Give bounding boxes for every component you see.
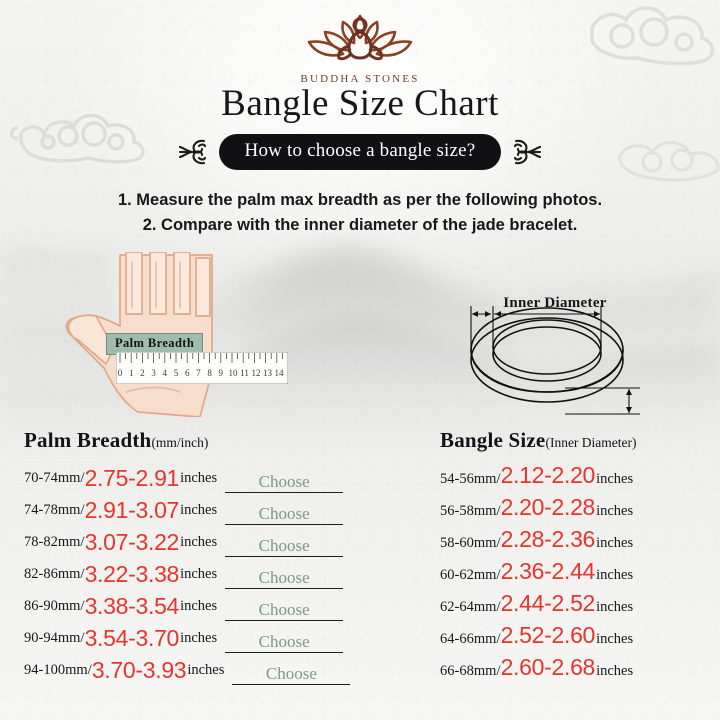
- bangle-ring-perspective-icon: [455, 292, 655, 420]
- svg-text:5: 5: [174, 368, 179, 378]
- lotus-meditation-logo-icon: [297, 8, 423, 70]
- svg-text:2: 2: [140, 368, 145, 378]
- row-inch: 2.60-2.68: [501, 654, 596, 681]
- row-mm: 90-94mm: [24, 630, 80, 647]
- palm-breadth-header-sub: (mm/inch): [151, 435, 208, 450]
- instruction-line-2: 2. Compare with the inner diameter of th…: [0, 213, 720, 238]
- bangle-size-rows: 54-56mm / 2.12-2.20 inches 56-58mm / 2.2…: [440, 462, 712, 686]
- row-mm: 54-56mm: [440, 471, 496, 488]
- row-inch: 2.44-2.52: [501, 590, 596, 617]
- table-row: 74-78mm / 2.91-3.07 inches Choose: [24, 494, 354, 526]
- row-unit: inches: [186, 662, 224, 679]
- choose-field[interactable]: Choose: [232, 655, 350, 685]
- choose-field[interactable]: Choose: [225, 495, 343, 525]
- row-inch: 3.70-3.93: [92, 657, 187, 684]
- svg-text:6: 6: [185, 368, 190, 378]
- svg-text:4: 4: [163, 368, 168, 378]
- row-unit: inches: [595, 503, 633, 520]
- svg-text:8: 8: [207, 368, 212, 378]
- table-row: 78-82mm / 3.07-3.22 inches Choose: [24, 526, 354, 558]
- ruler-icon: 012 345 678 91011 121314: [116, 352, 288, 384]
- bangle-size-table: Bangle Size(Inner Diameter) 54-56mm / 2.…: [440, 428, 712, 686]
- ornamental-swirl-icon-right: [511, 135, 545, 169]
- row-mm: 64-66mm: [440, 631, 496, 648]
- choose-field[interactable]: Choose: [225, 623, 343, 653]
- row-inch: 3.54-3.70: [85, 625, 180, 652]
- svg-text:13: 13: [263, 368, 273, 378]
- choose-label: Choose: [259, 633, 310, 653]
- instruction-line-1: 1. Measure the palm max breadth as per t…: [0, 188, 720, 213]
- row-unit: inches: [595, 567, 633, 584]
- choose-underline: [232, 684, 350, 685]
- brand-logo-block: BUDDHA STONES: [0, 8, 720, 85]
- svg-text:7: 7: [196, 368, 201, 378]
- bangle-size-header-main: Bangle Size: [440, 428, 545, 452]
- row-mm: 58-60mm: [440, 535, 496, 552]
- row-mm: 66-68mm: [440, 663, 496, 680]
- row-unit: inches: [595, 471, 633, 488]
- table-row: 60-62mm / 2.36-2.44 inches: [440, 558, 712, 590]
- row-unit: inches: [179, 566, 217, 583]
- svg-text:11: 11: [240, 368, 249, 378]
- row-mm: 78-82mm: [24, 534, 80, 551]
- row-unit: inches: [595, 599, 633, 616]
- choose-label: Choose: [259, 601, 310, 621]
- row-inch: 2.12-2.20: [501, 462, 596, 489]
- table-row: 86-90mm / 3.38-3.54 inches Choose: [24, 590, 354, 622]
- row-unit: inches: [179, 534, 217, 551]
- row-unit: inches: [595, 631, 633, 648]
- row-unit: inches: [595, 663, 633, 680]
- choose-field[interactable]: Choose: [225, 559, 343, 589]
- page-title: Bangle Size Chart: [0, 82, 720, 125]
- table-row: 58-60mm / 2.28-2.36 inches: [440, 526, 712, 558]
- choose-field[interactable]: Choose: [225, 527, 343, 557]
- row-mm: 82-86mm: [24, 566, 80, 583]
- row-inch: 3.38-3.54: [85, 593, 180, 620]
- banner-row: How to choose a bangle size?: [0, 134, 720, 170]
- bangle-size-chart-page: BUDDHA STONES Bangle Size Chart How to c…: [0, 0, 720, 720]
- choose-label: Choose: [259, 505, 310, 525]
- row-inch: 3.22-3.38: [85, 561, 180, 588]
- row-inch: 2.91-3.07: [85, 497, 180, 524]
- row-mm: 56-58mm: [440, 503, 496, 520]
- choose-underline: [225, 652, 343, 653]
- row-mm: 86-90mm: [24, 598, 80, 615]
- table-row: 90-94mm / 3.54-3.70 inches Choose: [24, 622, 354, 654]
- svg-text:1: 1: [129, 368, 134, 378]
- row-inch: 2.52-2.60: [501, 622, 596, 649]
- row-mm: 74-78mm: [24, 502, 80, 519]
- row-unit: inches: [595, 535, 633, 552]
- bangle-size-header-sub: (Inner Diameter): [545, 435, 636, 450]
- svg-text:0: 0: [118, 368, 123, 378]
- row-mm: 94-100mm: [24, 662, 88, 679]
- row-unit: inches: [179, 630, 217, 647]
- table-row: 94-100mm / 3.70-3.93 inches Choose: [24, 654, 354, 686]
- row-inch: 2.20-2.28: [501, 494, 596, 521]
- row-unit: inches: [179, 470, 217, 487]
- palm-breadth-table: Palm Breadth(mm/inch) 70-74mm / 2.75-2.9…: [24, 428, 354, 686]
- table-row: 82-86mm / 3.22-3.38 inches Choose: [24, 558, 354, 590]
- choose-label: Choose: [259, 537, 310, 557]
- table-row: 66-68mm / 2.60-2.68 inches: [440, 654, 712, 686]
- choose-label: Choose: [266, 665, 317, 685]
- choose-underline: [225, 492, 343, 493]
- how-to-choose-banner: How to choose a bangle size?: [219, 134, 502, 170]
- row-mm: 62-64mm: [440, 599, 496, 616]
- instructions-block: 1. Measure the palm max breadth as per t…: [0, 188, 720, 238]
- svg-text:10: 10: [229, 368, 239, 378]
- svg-text:3: 3: [151, 368, 156, 378]
- choose-label: Choose: [259, 569, 310, 589]
- row-unit: inches: [179, 502, 217, 519]
- palm-breadth-rows: 70-74mm / 2.75-2.91 inches Choose 74-78m…: [24, 462, 354, 686]
- table-row: 54-56mm / 2.12-2.20 inches: [440, 462, 712, 494]
- row-inch: 2.36-2.44: [501, 558, 596, 585]
- choose-underline: [225, 620, 343, 621]
- row-mm: 60-62mm: [440, 567, 496, 584]
- row-inch: 2.75-2.91: [85, 465, 180, 492]
- row-inch: 2.28-2.36: [501, 526, 596, 553]
- svg-text:9: 9: [219, 368, 224, 378]
- choose-underline: [225, 588, 343, 589]
- table-row: 62-64mm / 2.44-2.52 inches: [440, 590, 712, 622]
- bangle-size-header: Bangle Size(Inner Diameter): [440, 428, 712, 453]
- ornamental-swirl-icon-left: [175, 135, 209, 169]
- palm-breadth-header-main: Palm Breadth: [24, 428, 151, 452]
- svg-text:14: 14: [275, 368, 285, 378]
- palm-breadth-header: Palm Breadth(mm/inch): [24, 428, 354, 453]
- choose-field[interactable]: Choose: [225, 463, 343, 493]
- row-inch: 3.07-3.22: [85, 529, 180, 556]
- table-row: 56-58mm / 2.20-2.28 inches: [440, 494, 712, 526]
- table-row: 70-74mm / 2.75-2.91 inches Choose: [24, 462, 354, 494]
- choose-field[interactable]: Choose: [225, 591, 343, 621]
- row-mm: 70-74mm: [24, 470, 80, 487]
- svg-text:12: 12: [252, 368, 261, 378]
- choose-underline: [225, 524, 343, 525]
- row-unit: inches: [179, 598, 217, 615]
- table-row: 64-66mm / 2.52-2.60 inches: [440, 622, 712, 654]
- choose-underline: [225, 556, 343, 557]
- choose-label: Choose: [259, 473, 310, 493]
